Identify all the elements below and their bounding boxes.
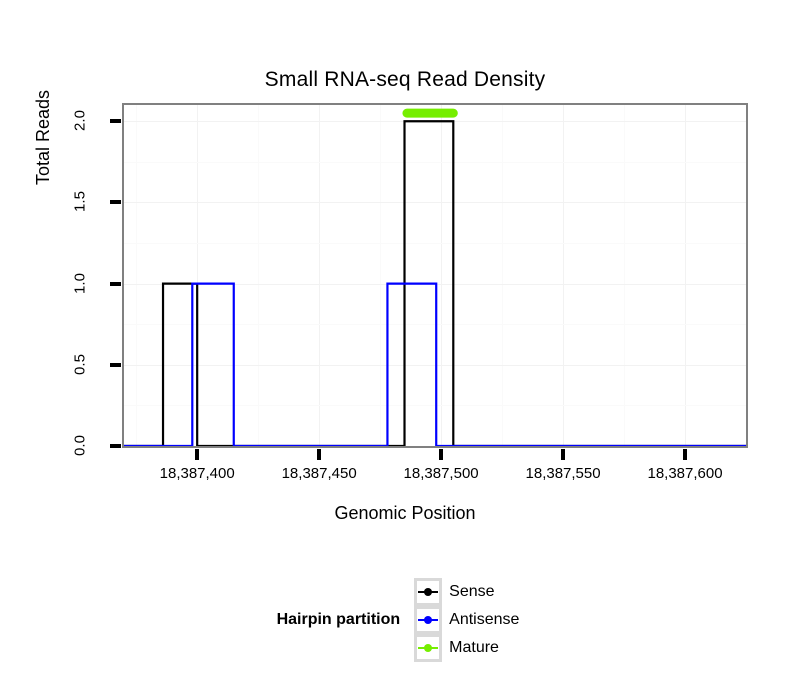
- legend-key-dot: [424, 616, 432, 624]
- legend-title: Hairpin partition: [277, 611, 401, 629]
- legend-label: Mature: [449, 639, 499, 657]
- y-tick-mark: [110, 444, 121, 448]
- y-tick-label: 2.0: [72, 101, 89, 141]
- chart-title: Small RNA-seq Read Density: [0, 68, 810, 92]
- legend-key-dot: [424, 644, 432, 652]
- x-tick-label: 18,387,500: [404, 465, 479, 482]
- y-tick-mark: [110, 363, 121, 367]
- x-tick-label: 18,387,400: [160, 465, 235, 482]
- y-tick-label: 0.5: [72, 344, 89, 384]
- y-tick-label: 1.5: [72, 182, 89, 222]
- series-line-antisense: [124, 284, 746, 446]
- x-tick-mark: [317, 449, 321, 460]
- x-tick-label: 18,387,600: [647, 465, 722, 482]
- legend-key-glyph: [418, 615, 438, 625]
- legend-key-mature-icon: [414, 634, 442, 662]
- series-layer: [124, 105, 746, 446]
- plot-area: [124, 105, 746, 446]
- legend-label: Antisense: [449, 611, 519, 629]
- x-axis-title: Genomic Position: [0, 503, 810, 524]
- legend-label: Sense: [449, 583, 494, 601]
- y-tick-mark: [110, 282, 121, 286]
- y-tick-mark: [110, 200, 121, 204]
- legend: Hairpin partition SenseAntisenseMature: [0, 578, 810, 662]
- legend-item-sense[interactable]: Sense: [414, 578, 519, 606]
- legend-key-antisense-icon: [414, 606, 442, 634]
- plot-panel: [122, 103, 748, 448]
- chart-container: Small RNA-seq Read Density Total Reads 0…: [0, 0, 810, 690]
- legend-key-glyph: [418, 587, 438, 597]
- y-tick-label: 1.0: [72, 263, 89, 303]
- legend-key-dot: [424, 588, 432, 596]
- x-tick-mark: [195, 449, 199, 460]
- x-tick-mark: [561, 449, 565, 460]
- x-tick-label: 18,387,450: [282, 465, 357, 482]
- y-tick-mark: [110, 119, 121, 123]
- legend-items: SenseAntisenseMature: [414, 578, 533, 662]
- x-tick-mark: [439, 449, 443, 460]
- y-tick-label: 0.0: [72, 426, 89, 466]
- legend-key-sense-icon: [414, 578, 442, 606]
- y-axis-title: Total Reads: [33, 90, 54, 185]
- x-tick-label: 18,387,550: [526, 465, 601, 482]
- legend-item-mature[interactable]: Mature: [414, 634, 519, 662]
- x-tick-mark: [683, 449, 687, 460]
- legend-key-glyph: [418, 643, 438, 653]
- legend-item-antisense[interactable]: Antisense: [414, 606, 519, 634]
